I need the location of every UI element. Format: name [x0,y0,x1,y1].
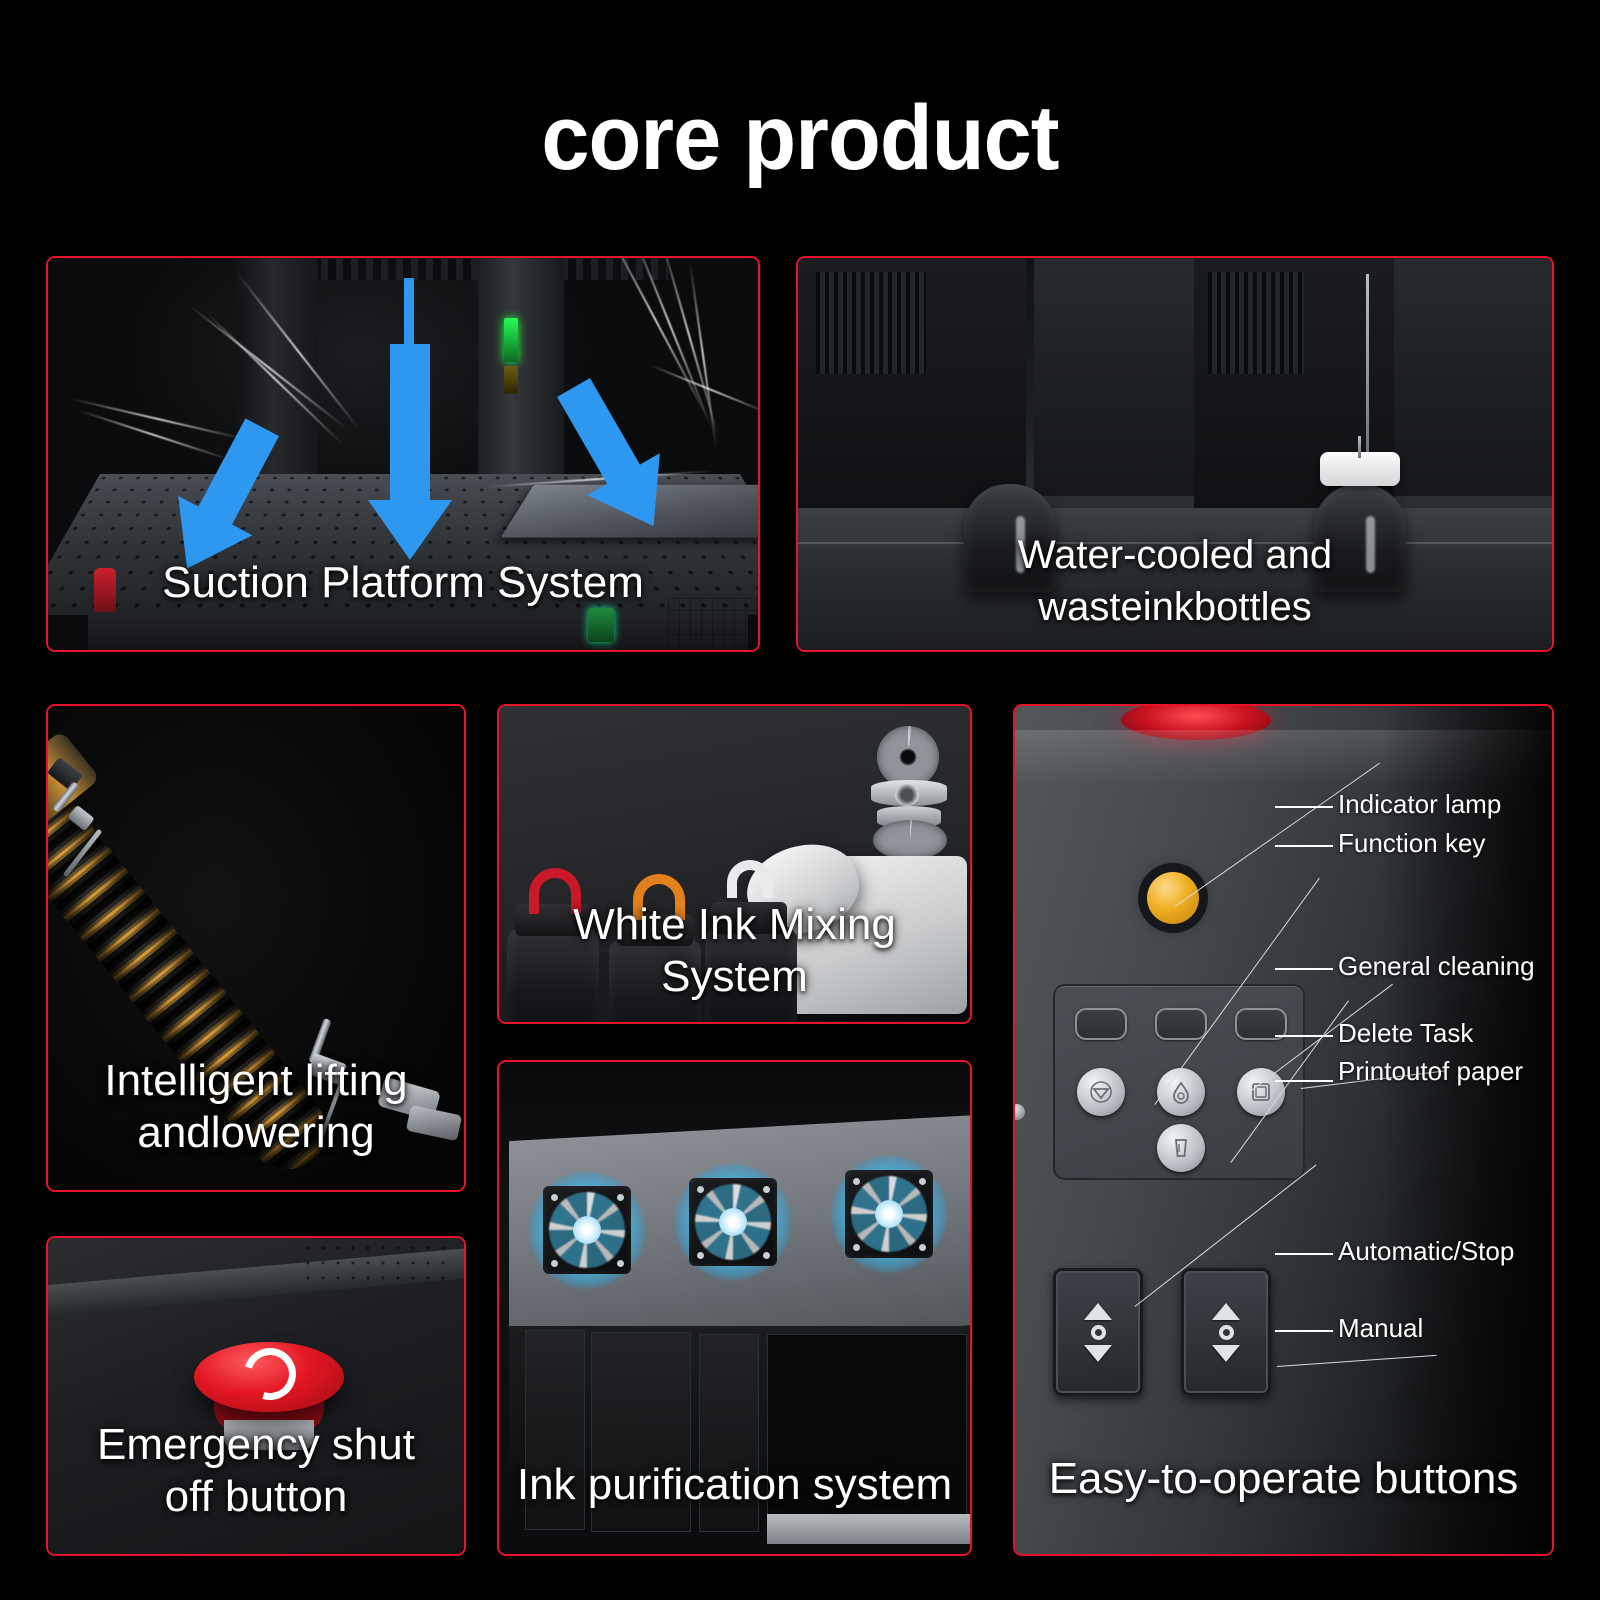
lead-line-indicator-lamp [1275,806,1333,808]
lead-line-general-cleaning [1275,968,1333,970]
manual-rocker[interactable] [1181,1268,1271,1396]
print-paper-button[interactable] [1157,1124,1205,1172]
suction-platform-image [48,258,758,650]
up-triangle-icon [1212,1303,1240,1320]
lead-line-delete-task [1275,1035,1333,1037]
function-key-1[interactable] [1075,1008,1127,1040]
circle-icon [1091,1325,1106,1340]
panel-emergency-stop[interactable]: Emergency shut off button [46,1236,466,1556]
down-triangle-icon [1084,1345,1112,1362]
lead-line-manual [1275,1330,1333,1332]
white-ink-mixing-image [499,706,970,1022]
ink-drop-icon [1169,1080,1193,1104]
panel-white-ink-mixing[interactable]: White Ink Mixing System [497,704,972,1024]
automatic-stop-rocker[interactable] [1053,1268,1143,1396]
lead-line-printout-paper [1275,1080,1333,1082]
function-key-2[interactable] [1155,1008,1207,1040]
status-led [504,318,518,362]
waste-ink-bottle-right [1314,484,1406,592]
lead-line-function-key [1275,845,1333,847]
callout-delete-task: Delete Task [1338,1018,1473,1049]
infographic-root: core product [0,0,1600,1600]
waste-ink-bottle-left [964,484,1056,592]
panel-intelligent-lifting[interactable]: Intelligent lifting andlowering [46,704,466,1192]
ink-tube-orange [633,874,685,920]
panel-water-cooled-waste-ink[interactable]: Water-cooled and wasteinkbottles [796,256,1554,652]
gear-bottom [873,820,947,860]
callout-automatic-stop: Automatic/Stop [1338,1236,1514,1267]
callout-general-cleaning: General cleaning [1338,951,1535,982]
page-title: core product [48,86,1552,191]
cooling-fan-3 [831,1156,947,1272]
cooling-fan-1 [529,1172,645,1288]
cooling-fan-2 [675,1164,791,1280]
waste-ink-bottles-image [798,258,1552,650]
callout-indicator-lamp: Indicator lamp [1338,789,1501,820]
ink-tube-red [529,868,581,914]
keypad[interactable] [1053,984,1305,1180]
panel-suction-platform[interactable]: Suction Platform System [46,256,760,652]
lifting-spring-image [48,706,464,1190]
callout-manual: Manual [1338,1313,1423,1344]
lead-line-automatic-stop [1275,1253,1333,1255]
paper-eject-icon [1169,1136,1193,1160]
cleaning-icon [1088,1079,1114,1105]
callout-printout-paper: Printoutof paper [1338,1056,1523,1087]
circle-icon [1219,1325,1234,1340]
delete-task-button[interactable] [1237,1068,1285,1116]
emergency-stop-image [48,1238,464,1554]
indicator-lamp [1147,872,1199,924]
general-cleaning-button[interactable] [1077,1068,1125,1116]
callout-function-key: Function key [1338,828,1485,859]
down-triangle-icon [1212,1345,1240,1362]
ink-purification-image [499,1062,970,1554]
panel-ink-purification[interactable]: Ink purification system [497,1060,972,1556]
up-triangle-icon [1084,1303,1112,1320]
